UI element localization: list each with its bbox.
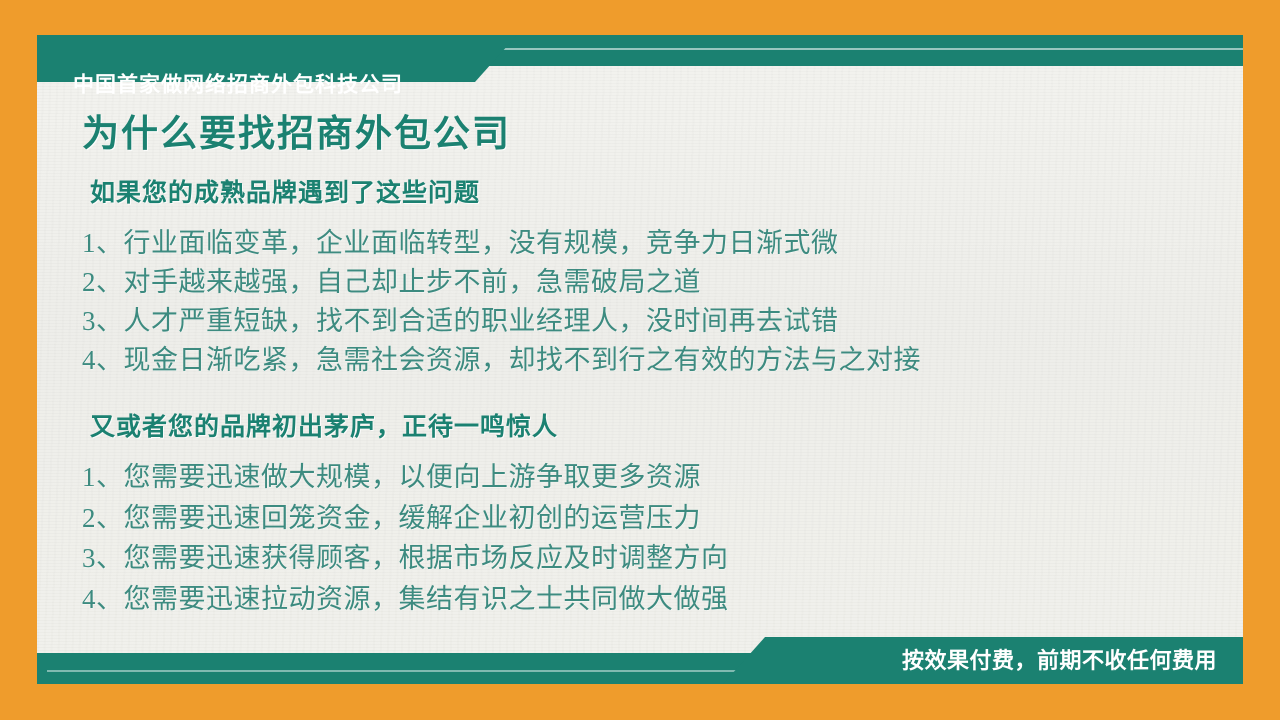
list-item: 1、行业面临变革，企业面临转型，没有规模，竞争力日渐式微 — [82, 224, 1202, 263]
list-item: 3、您需要迅速获得顾客，根据市场反应及时调整方向 — [82, 538, 1202, 579]
list-item: 1、您需要迅速做大规模，以便向上游争取更多资源 — [82, 457, 1202, 498]
section-mature-brand: 如果您的成熟品牌遇到了这些问题 1、行业面临变革，企业面临转型，没有规模，竞争力… — [82, 178, 1202, 380]
section-heading-1: 如果您的成熟品牌遇到了这些问题 — [90, 178, 1202, 209]
list-item: 4、您需要迅速拉动资源，集结有识之士共同做大做强 — [82, 579, 1202, 620]
slide-root: 中国首家做网络招商外包科技公司 为什么要找招商外包公司 如果您的成熟品牌遇到了这… — [0, 0, 1280, 720]
list-item: 2、您需要迅速回笼资金，缓解企业初创的运营压力 — [82, 498, 1202, 539]
list-item: 3、人才严重短缺，找不到合适的职业经理人，没时间再去试错 — [82, 302, 1202, 341]
list-item: 4、现金日渐吃紧，急需社会资源，却找不到行之有效的方法与之对接 — [82, 341, 1202, 380]
section-heading-2: 又或者您的品牌初出茅庐，正待一鸣惊人 — [90, 412, 1202, 443]
content-area: 为什么要找招商外包公司 如果您的成熟品牌遇到了这些问题 1、行业面临变革，企业面… — [82, 112, 1202, 627]
item-list-1: 1、行业面临变革，企业面临转型，没有规模，竞争力日渐式微 2、对手越来越强，自己… — [82, 224, 1202, 381]
section-new-brand: 又或者您的品牌初出茅庐，正待一鸣惊人 1、您需要迅速做大规模，以便向上游争取更多… — [82, 412, 1202, 619]
list-item: 2、对手越来越强，自己却止步不前，急需破局之道 — [82, 263, 1202, 302]
page-title: 为什么要找招商外包公司 — [82, 112, 1202, 156]
item-list-2: 1、您需要迅速做大规模，以便向上游争取更多资源 2、您需要迅速回笼资金，缓解企业… — [82, 457, 1202, 619]
